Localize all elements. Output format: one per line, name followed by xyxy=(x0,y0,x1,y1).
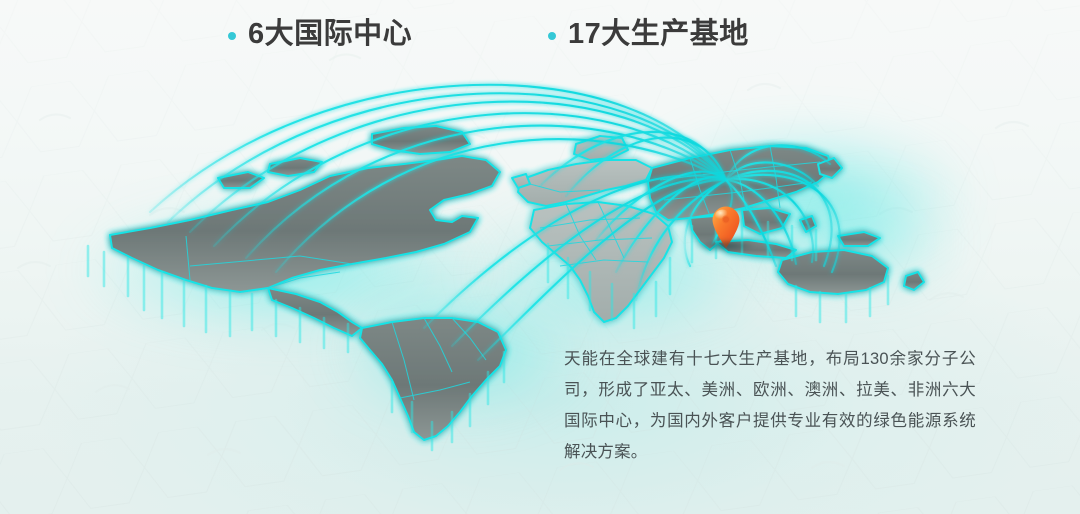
landmass-se-asia xyxy=(742,208,790,234)
landmass-new-zealand xyxy=(904,272,924,290)
cyan-dot-icon xyxy=(228,32,236,40)
description-paragraph: 天能在全球建有十七大生产基地，布局130余家分子公司，形成了亚太、美洲、欧洲、澳… xyxy=(564,344,976,468)
cyan-dot-icon xyxy=(548,32,556,40)
heading-international-centers-label: 6大国际中心 xyxy=(248,20,412,49)
landmass-new-guinea xyxy=(838,232,880,246)
heading-production-bases: 17大生产基地 xyxy=(548,20,749,49)
landmass-europe xyxy=(518,160,652,206)
heading-production-bases-label: 17大生产基地 xyxy=(568,20,749,49)
headings-row: 6大国际中心 17大生产基地 xyxy=(0,20,1080,70)
location-marker[interactable] xyxy=(711,205,741,249)
infographic-slide: 6大国际中心 17大生产基地 天能在全球建有十七大生产基地，布局130余家分子公… xyxy=(0,0,1080,514)
landmass-greenland xyxy=(372,126,470,154)
landmass-arctic-isles-2 xyxy=(218,172,264,188)
heading-international-centers: 6大国际中心 xyxy=(228,20,412,49)
landmass-british-isles xyxy=(512,174,530,188)
marker-shadow xyxy=(695,239,757,252)
landmass-north-america xyxy=(110,156,500,292)
